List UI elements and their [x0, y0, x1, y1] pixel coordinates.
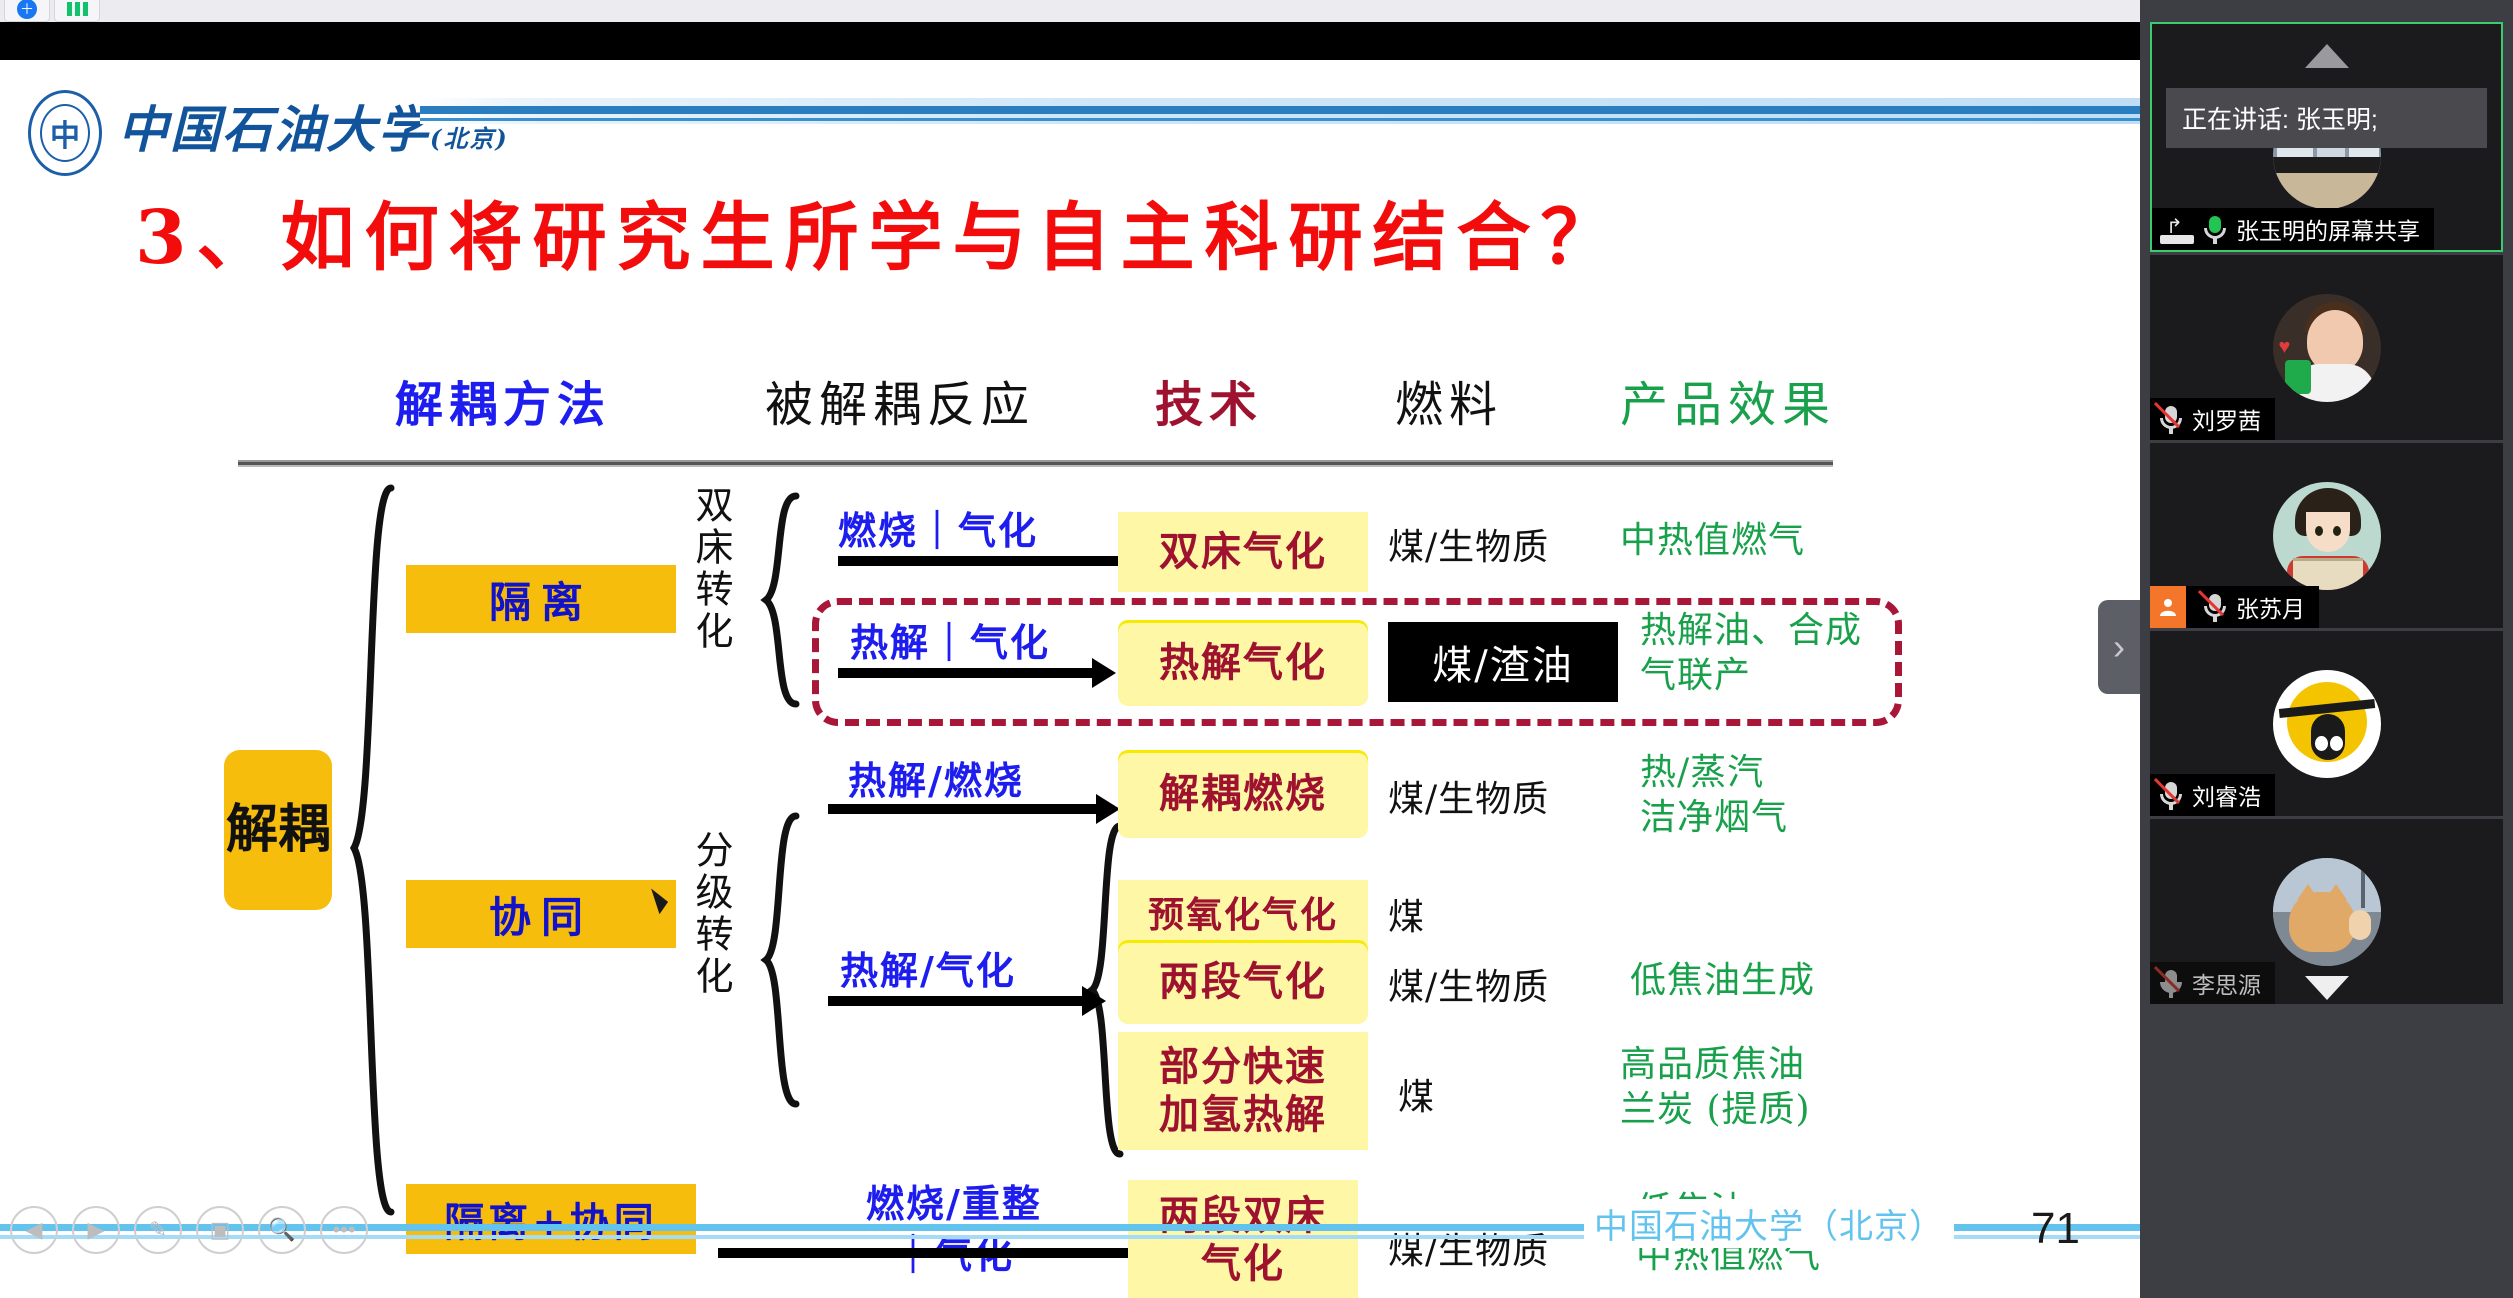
university-name-main: 中国石油大学: [118, 100, 430, 159]
microphone-on-icon: [2202, 214, 2228, 244]
screen-share-icon: ↱: [2160, 214, 2194, 244]
row-5-fuel: 煤: [1398, 1068, 1435, 1120]
video-tile-participant[interactable]: 张苏月: [2150, 443, 2503, 628]
participant-nametag: ↱ 张玉明的屏幕共享: [2152, 208, 2434, 250]
more-options-icon[interactable]: •••: [320, 1206, 368, 1254]
row-2-fuel: 煤/生物质: [1388, 770, 1549, 822]
app-launcher-button[interactable]: ＋: [4, 0, 50, 22]
row-1-fuel-inverted: 煤/渣油: [1388, 622, 1618, 702]
column-header-product: 产品效果: [1620, 365, 1836, 435]
university-seal-icon: 中: [28, 90, 102, 176]
method-label-synergy: 协同: [489, 884, 593, 945]
signal-bars-icon: [67, 2, 88, 16]
participant-nametag: 张苏月: [2150, 586, 2319, 628]
chevron-right-icon: ›: [2113, 629, 2125, 665]
chevron-down-icon[interactable]: [2305, 976, 2349, 1000]
university-name-sub: (北京): [430, 124, 509, 153]
host-badge-icon: [2150, 586, 2186, 628]
column-header-reaction: 被解耦反应: [765, 365, 1035, 435]
header-rule: [238, 460, 1833, 467]
participant-name: 刘罗茜: [2192, 402, 2261, 436]
row-1-product: 热解油、合成 气联产: [1640, 608, 1862, 698]
avatar: [2273, 670, 2381, 778]
screen-root: ＋ 01:17:45 中 中国石油大学(北京) 3、如何将研究生所学与自主科研结…: [0, 0, 2513, 1298]
collapse-panel-button[interactable]: ›: [2098, 600, 2140, 694]
next-slide-icon[interactable]: ▶: [72, 1206, 120, 1254]
participant-name: 张苏月: [2236, 590, 2305, 624]
participant-name: 李思源: [2192, 966, 2261, 1000]
slide-overview-icon[interactable]: ▣: [196, 1206, 244, 1254]
signal-bars-button[interactable]: [54, 0, 100, 22]
microphone-muted-icon: [2158, 404, 2184, 434]
page-number: 71: [2031, 1204, 2080, 1254]
plus-circle-icon: ＋: [17, 0, 37, 19]
shared-slide: 中 中国石油大学(北京) 3、如何将研究生所学与自主科研结合？ 解耦方法 被解耦…: [0, 60, 2140, 1298]
root-node-decoupling: 解耦: [224, 750, 332, 910]
video-tile-participant[interactable]: 刘睿浩: [2150, 631, 2503, 816]
group-label-dual-bed: 双床转化: [692, 485, 730, 675]
dual-bed-brace: [758, 490, 808, 710]
root-node-label: 解耦: [226, 803, 330, 858]
method-box-synergy: 协同: [406, 880, 676, 948]
row-2-technology: 解耦燃烧: [1118, 750, 1368, 838]
row-0-fuel: 煤/生物质: [1388, 518, 1549, 570]
root-brace: [336, 480, 406, 1220]
column-header-technology: 技术: [1155, 365, 1263, 435]
row-4-product: 低焦油生成: [1630, 958, 1815, 1003]
row-0-product: 中热值燃气: [1620, 518, 1805, 563]
participant-name: 张玉明的屏幕共享: [2236, 212, 2420, 246]
microphone-muted-icon: [2158, 780, 2184, 810]
row-4-technology: 两段气化: [1118, 940, 1368, 1024]
row-3-fuel: 煤: [1388, 888, 1425, 940]
row-2-reaction: 热解/燃烧: [848, 750, 1024, 805]
active-speaker-banner: 正在讲话: 张玉明;: [2166, 88, 2487, 148]
staged-brace: [758, 810, 808, 1110]
row-2-product: 热/蒸汽 洁净烟气: [1640, 750, 1788, 840]
group-label-staged: 分级转化: [692, 830, 730, 1060]
participant-nametag: 刘睿浩: [2150, 774, 2275, 816]
pen-icon[interactable]: ✎: [134, 1206, 182, 1254]
video-tile-screen-share[interactable]: 正在讲话: 张玉明; ↱ 张玉明的屏幕共享: [2150, 22, 2503, 252]
chevron-up-icon[interactable]: [2305, 44, 2349, 68]
row-1-arrow: [838, 668, 1096, 678]
row-6-arrow: [718, 1248, 1138, 1258]
prev-slide-icon[interactable]: ◀: [10, 1206, 58, 1254]
column-header-method: 解耦方法: [395, 365, 611, 435]
video-participants-panel: › 正在讲话: 张玉明; ↱ 张玉明的屏幕共享 ♥ 刘罗茜: [2140, 0, 2513, 1298]
header-decoration-bars: [420, 98, 2140, 124]
video-tile-participant[interactable]: 李思源: [2150, 819, 2503, 1004]
participant-nametag: 刘罗茜: [2150, 398, 2275, 440]
participant-nametag: 李思源: [2150, 962, 2275, 1004]
footer-university-name: 中国石油大学（北京）: [1584, 1199, 1954, 1248]
page-title: 3、如何将研究生所学与自主科研结合？: [135, 178, 2035, 285]
column-header-fuel: 燃料: [1395, 365, 1503, 435]
row-2-arrow: [828, 804, 1100, 814]
row-1-technology: 热解气化: [1118, 620, 1368, 706]
microphone-muted-icon: [2158, 968, 2184, 998]
presentation-toolbar: ◀ ▶ ✎ ▣ 🔍 •••: [10, 1206, 368, 1254]
row-1-reaction: 热解｜气化: [850, 612, 1050, 667]
row-0-technology: 双床气化: [1118, 512, 1368, 592]
avatar: ♥: [2273, 294, 2381, 402]
method-box-isolation: 隔离: [406, 565, 676, 633]
row-4-reaction: 热解/气化: [840, 940, 1016, 995]
row-5-product: 高品质焦油 兰炭 (提质): [1620, 1042, 1811, 1132]
row-4-fuel: 煤/生物质: [1388, 958, 1549, 1010]
row-5-technology: 部分快速 加氢热解: [1118, 1032, 1368, 1150]
row-0-reaction: 燃烧｜气化: [838, 500, 1038, 555]
row-0-arrow: [838, 556, 1128, 566]
participant-name: 刘睿浩: [2192, 778, 2261, 812]
video-tile-participant[interactable]: ♥ 刘罗茜: [2150, 255, 2503, 440]
microphone-muted-icon: [2202, 592, 2228, 622]
zoom-icon[interactable]: 🔍: [258, 1206, 306, 1254]
avatar: [2273, 858, 2381, 966]
method-label-isolation: 隔离: [489, 569, 593, 630]
top-toolbar: ＋ 01:17:45: [0, 0, 2513, 22]
row-4-arrow: [828, 996, 1086, 1006]
avatar: [2273, 482, 2381, 590]
